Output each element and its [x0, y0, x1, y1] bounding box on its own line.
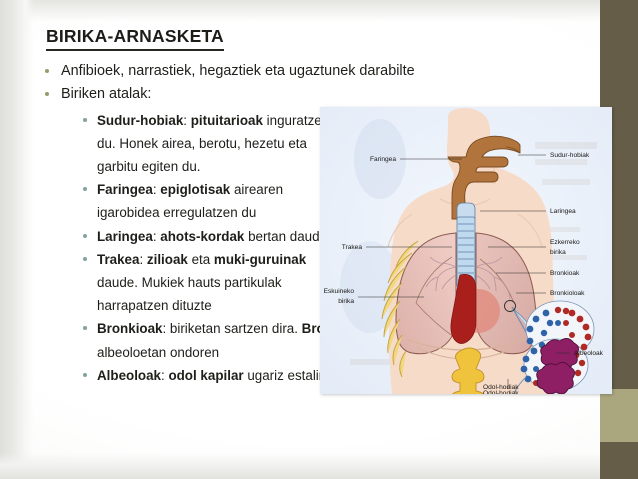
bullet-marker-icon	[83, 257, 87, 261]
diagram-label-faringea: Faringea	[370, 156, 396, 163]
background-vignette-bottom	[0, 453, 638, 479]
diagram-label-ezkerreko-birika-line2: birika	[550, 249, 566, 256]
diagram-label-eskuineko-birika-line2: birika	[338, 298, 354, 305]
diagram-label-laringea: Laringea	[550, 208, 576, 215]
bullet-text: Anfibioek, narrastiek, hegaztiek eta uga…	[61, 63, 415, 79]
diagram-label-sudur-hobiak: Sudur-hobiak	[550, 152, 590, 159]
bullet-item-faringea: Faringea: epiglotisak airearen igarobide…	[81, 178, 349, 224]
bullet-marker-icon	[83, 373, 87, 377]
bullet-marker-icon	[83, 187, 87, 191]
bullet-text: Laringea: ahots-kordak bertan daude	[97, 229, 327, 244]
bullet-item-animals: Anfibioek, narrastiek, hegaztiek eta uga…	[42, 60, 582, 83]
decorative-band-middle	[600, 389, 638, 442]
bullet-marker-icon	[83, 326, 87, 330]
bullet-text: Faringea: epiglotisak airearen igarobide…	[97, 182, 283, 220]
slide-canvas: BIRIKA-ARNASKETA Anfibioek, narrastiek, …	[0, 0, 638, 479]
background-vignette-top	[0, 0, 638, 22]
bullet-text: Biriken atalak:	[61, 86, 151, 102]
bullet-text: Trakea: zilioak eta muki-guruinak daude.…	[97, 252, 306, 313]
respiratory-system-diagram: Faringea Trakea Eskuineko birika Sudur-h…	[320, 107, 612, 394]
slide-title: BIRIKA-ARNASKETA	[46, 26, 224, 51]
diagram-label-albeoloak: Albeoloak	[574, 350, 604, 357]
diagram-label-eskuineko-birika-line1: Eskuineko	[324, 288, 355, 295]
bullet-marker-icon	[83, 234, 87, 238]
bullet-text: Sudur-hobiak: pituitarioak inguratzen du…	[97, 113, 329, 174]
bullet-marker-icon	[45, 69, 49, 73]
decorative-band-bottom	[600, 442, 638, 479]
diagram-label-bronkioloak: Bronkioloak	[550, 290, 585, 297]
diagram-label-ezkerreko-birika-line1: Ezkerreko	[550, 239, 580, 246]
diagram-label-trakea: Trakea	[342, 244, 363, 251]
bullet-item-laringea: Laringea: ahots-kordak bertan daude	[81, 225, 349, 248]
bullet-item-sudur-hobiak: Sudur-hobiak: pituitarioak inguratzen du…	[81, 109, 349, 179]
bullet-marker-icon	[83, 118, 87, 122]
diagram-label-bronkioak: Bronkioak	[550, 270, 580, 277]
diagram-label-odol-hodiak-visible: Odol-hodiak	[483, 384, 519, 391]
bullet-item-trakea: Trakea: zilioak eta muki-guruinak daude.…	[81, 248, 349, 318]
background-vignette-left	[0, 0, 34, 479]
bullet-marker-icon	[45, 92, 49, 96]
